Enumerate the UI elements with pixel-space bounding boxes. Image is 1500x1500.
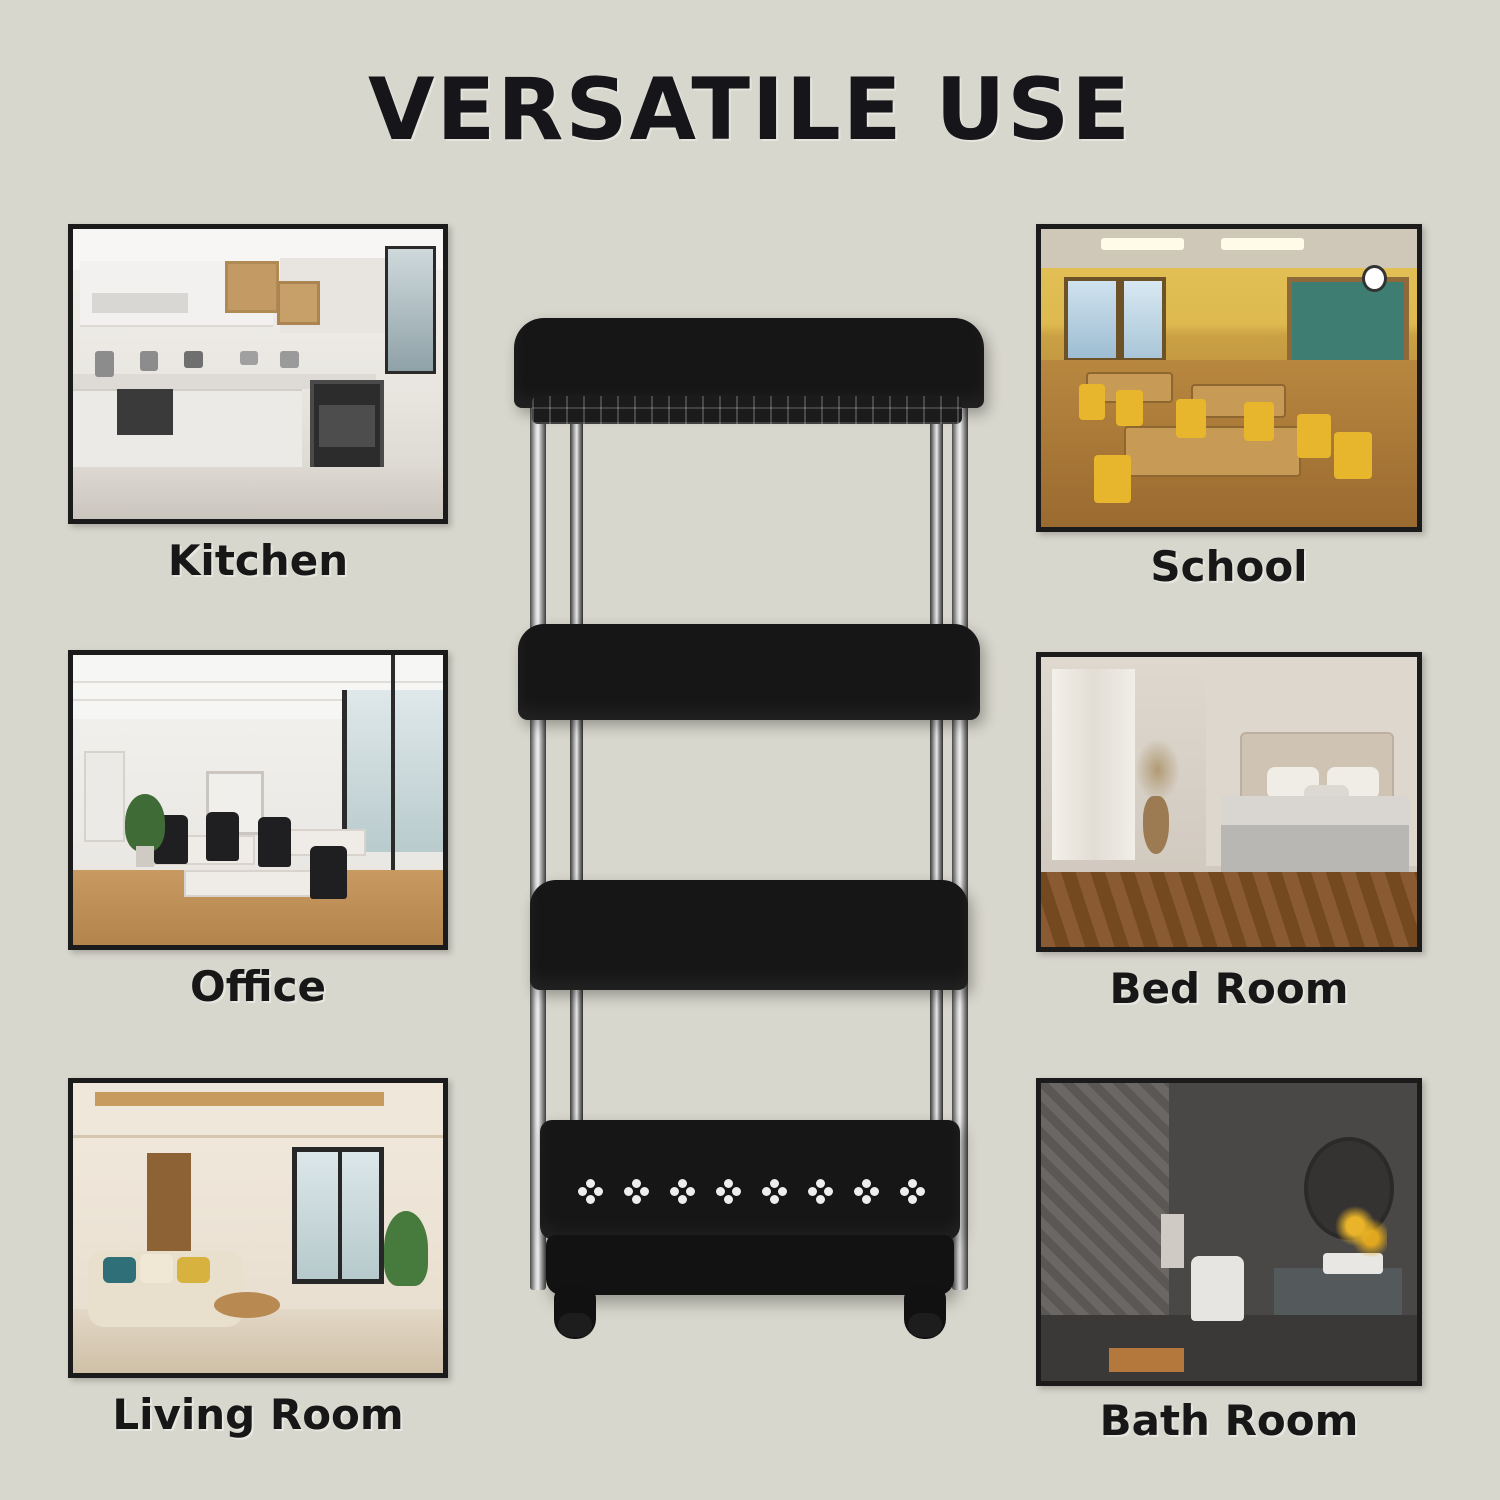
caption-kitchen: Kitchen: [68, 536, 448, 585]
photo-bedroom: [1041, 657, 1417, 947]
product-cart: [500, 300, 1000, 1350]
photo-frame-office: [68, 650, 448, 950]
vent-floret-icon: [762, 1179, 788, 1205]
caption-bedroom: Bed Room: [1036, 964, 1422, 1013]
product-infographic: VERSATILE USE: [0, 0, 1500, 1500]
caption-bathroom: Bath Room: [1036, 1396, 1422, 1445]
cell-bathroom: Bath Room: [1036, 1078, 1422, 1478]
photo-frame-kitchen: [68, 224, 448, 524]
vent-floret-icon: [900, 1179, 926, 1205]
page-title: VERSATILE USE: [0, 60, 1500, 160]
cell-office: Office: [68, 650, 448, 1040]
photo-bathroom: [1041, 1083, 1417, 1381]
cart-tier-1-rim: [514, 318, 984, 408]
cell-school: School: [1036, 224, 1422, 614]
cart-wheel-right: [904, 1285, 946, 1339]
cart-tier-1-mesh: [532, 396, 962, 424]
caption-school: School: [1036, 542, 1422, 591]
photo-office: [73, 655, 443, 945]
photo-kitchen: [73, 229, 443, 519]
cart-vent-holes: [568, 1172, 936, 1212]
photo-frame-school: [1036, 224, 1422, 532]
cart-tier-3-basket: [530, 880, 968, 990]
cell-livingroom: Living Room: [68, 1078, 448, 1478]
vent-floret-icon: [624, 1179, 650, 1205]
vent-floret-icon: [854, 1179, 880, 1205]
caption-office: Office: [68, 962, 448, 1011]
cart-base-plate: [546, 1235, 954, 1295]
cart-tier-2-basket: [518, 624, 980, 720]
photo-frame-bedroom: [1036, 652, 1422, 952]
cart-wheel-left: [554, 1285, 596, 1339]
vent-floret-icon: [716, 1179, 742, 1205]
vent-floret-icon: [808, 1179, 834, 1205]
photo-frame-bathroom: [1036, 1078, 1422, 1386]
vent-floret-icon: [670, 1179, 696, 1205]
photo-frame-livingroom: [68, 1078, 448, 1378]
cell-bedroom: Bed Room: [1036, 652, 1422, 1042]
photo-school: [1041, 229, 1417, 527]
vent-floret-icon: [578, 1179, 604, 1205]
caption-livingroom: Living Room: [68, 1390, 448, 1439]
cell-kitchen: Kitchen: [68, 224, 448, 614]
photo-livingroom: [73, 1083, 443, 1373]
